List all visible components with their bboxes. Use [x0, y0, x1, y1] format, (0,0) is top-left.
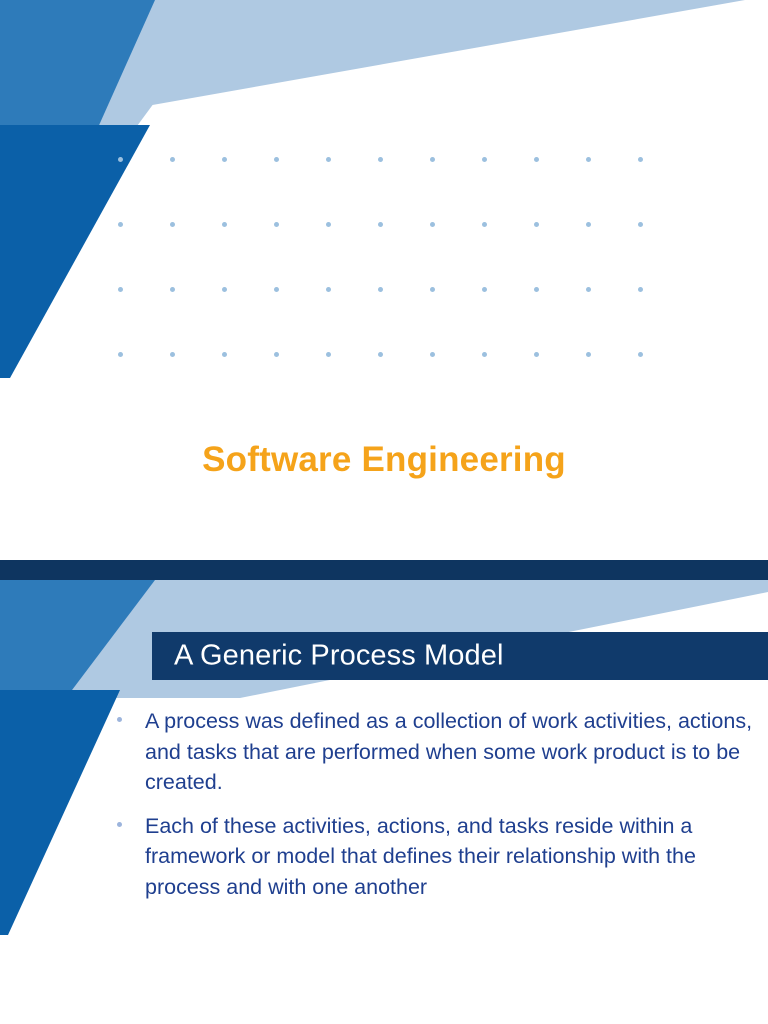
bullet-point-icon	[117, 822, 122, 827]
deep-blue-wedge-icon	[0, 125, 150, 378]
slide-title: Software Engineering	[0, 0, 768, 560]
section-heading-text: A Generic Process Model	[174, 640, 504, 673]
slide-deck: Software Engineering A Generic Process M…	[0, 0, 768, 1024]
slide-content: A Generic Process Model A process was de…	[0, 580, 768, 1024]
list-item: A process was defined as a collection of…	[112, 706, 762, 798]
list-item-text: Each of these activities, actions, and t…	[145, 811, 762, 903]
page-title: Software Engineering	[0, 439, 768, 481]
list-item: Each of these activities, actions, and t…	[112, 811, 762, 903]
list-item-text: A process was defined as a collection of…	[145, 706, 762, 798]
deep-blue-wedge-icon	[0, 690, 120, 935]
bullet-list: A process was defined as a collection of…	[112, 706, 762, 915]
bullet-point-icon	[117, 717, 122, 722]
slide-divider-bar	[0, 560, 768, 580]
section-heading-banner: A Generic Process Model	[152, 632, 768, 680]
